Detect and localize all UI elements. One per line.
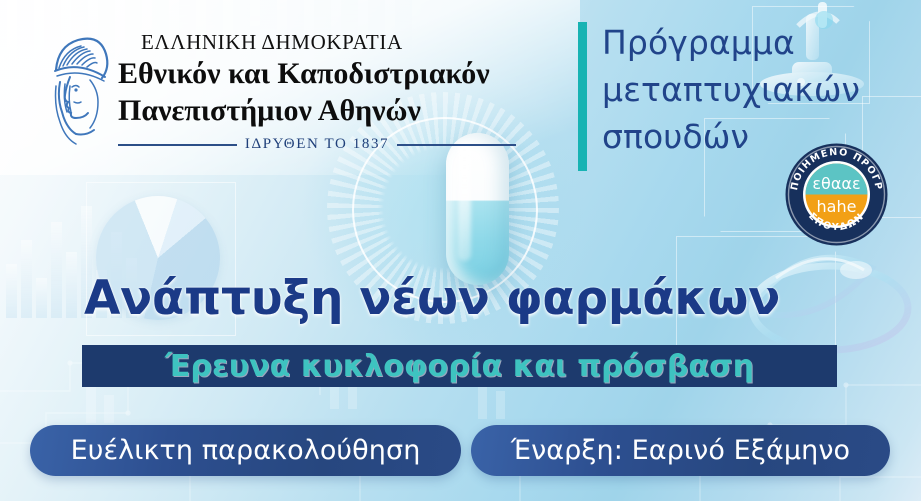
- founded-rule-left: [118, 144, 237, 146]
- banner-title: Ανάπτυξη νέων φαρμάκων: [84, 271, 864, 326]
- athena-head-emblem: [46, 30, 112, 148]
- flexible-attendance-pill[interactable]: Ευέλικτη παρακολούθηση: [30, 425, 461, 476]
- program-line-2: μεταπτυχιακών: [602, 67, 902, 114]
- certified-program-seal: ΠΙΣΤΟΠΟΙΗΜΕΝΟ ΠΡΟΓΡΑΜΜΑ ΣΠΟΥΔΩΝ εθααε ha…: [784, 142, 889, 247]
- university-name-line2: Πανεπιστήμιον Αθηνών: [118, 92, 516, 129]
- flexible-attendance-label: Ευέλικτη παρακολούθηση: [71, 435, 421, 466]
- subtitle-bar: Έρευνα κυκλοφορία και πρόσβαση: [82, 345, 837, 387]
- hellenic-republic-label: ΕΛΛΗΝΙΚΗ ΔΗΜΟΚΡΑΤΙΑ: [141, 30, 516, 55]
- program-banner: ΕΛΛΗΝΙΚΗ ΔΗΜΟΚΡΑΤΙΑ Εθνικόν και Καποδιστ…: [0, 0, 921, 501]
- program-line-1: Πρόγραμμα: [602, 20, 902, 67]
- uoa-logo: ΕΛΛΗΝΙΚΗ ΔΗΜΟΚΡΑΤΙΑ Εθνικόν και Καποδιστ…: [46, 24, 516, 164]
- seal-inner-top: εθααε: [812, 174, 860, 193]
- start-semester-pill[interactable]: Έναρξη: Εαρινό Εξάμηνο: [471, 425, 890, 476]
- seal-inner-bottom: hahe: [817, 197, 857, 216]
- founded-label: ΙΔΡΥΘΕΝ ΤΟ 1837: [245, 136, 389, 153]
- founded-rule-right: [397, 144, 516, 146]
- founded-year: ΙΔΡΥΘΕΝ ΤΟ 1837: [118, 136, 516, 153]
- start-semester-label: Έναρξη: Εαρινό Εξάμηνο: [511, 435, 850, 466]
- university-name-line1: Εθνικόν και Καποδιστριακόν: [118, 55, 516, 92]
- teal-accent-bar: [578, 22, 587, 171]
- banner-subtitle: Έρευνα κυκλοφορία και πρόσβαση: [82, 345, 837, 387]
- program-heading: Πρόγραμμα μεταπτυχιακών σπουδών: [602, 20, 902, 161]
